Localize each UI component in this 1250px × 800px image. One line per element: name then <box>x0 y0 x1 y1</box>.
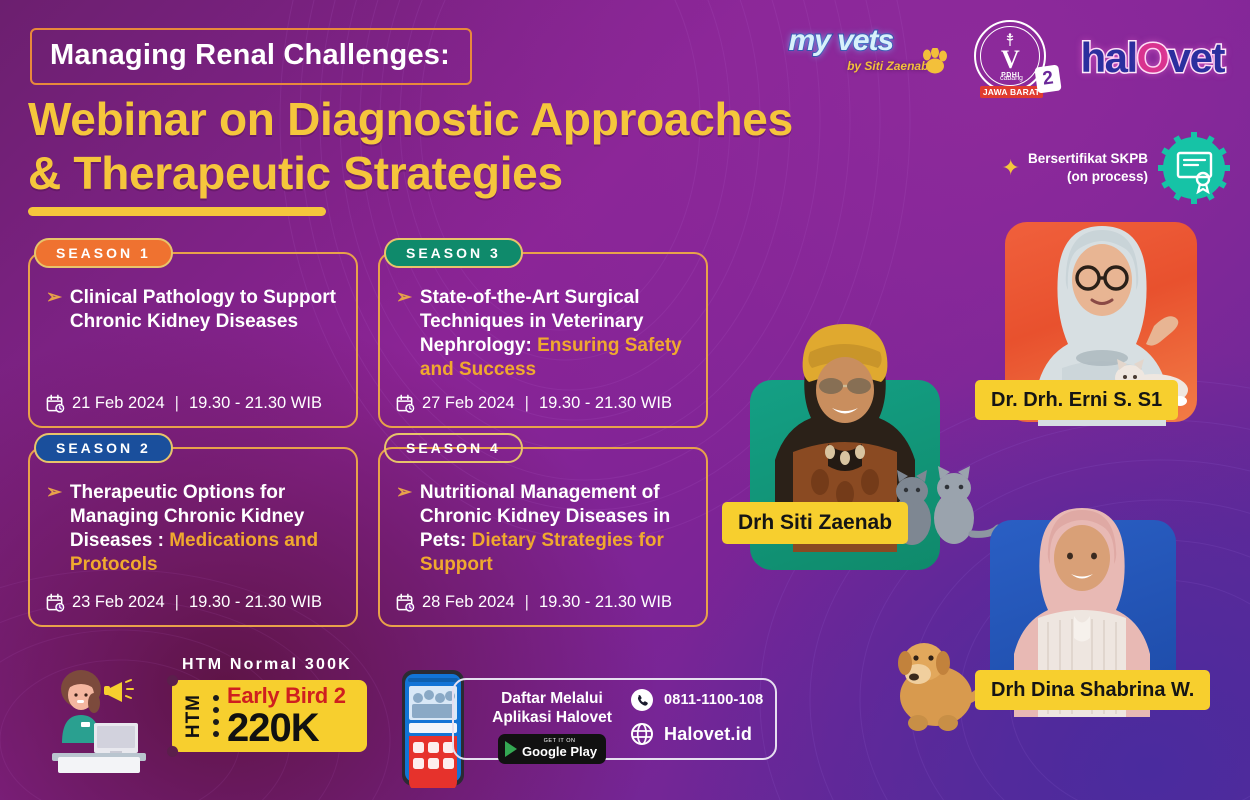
season-topic-1: ➢ Clinical Pathology to Support Chronic … <box>44 286 342 334</box>
arrow-icon: ➢ <box>46 482 62 505</box>
halovet-o-icon: O <box>1137 34 1168 81</box>
paw-icon <box>920 48 950 74</box>
title-underline <box>28 207 326 216</box>
calendar-icon <box>46 394 65 413</box>
season-date-1: 21 Feb 2024 <box>72 394 165 413</box>
speaker-name-tag-erni: Dr. Drh. Erni S. S1 <box>975 380 1178 420</box>
meta-separator: | <box>522 593 532 612</box>
season-date-4: 28 Feb 2024 <box>422 593 515 612</box>
meta-separator: | <box>172 593 182 612</box>
season-card-3[interactable]: SEASON 3 ➢ State-of-the-Art Surgical Tec… <box>378 252 708 428</box>
normal-price-label: HTM Normal 300K <box>182 656 367 674</box>
pdhi-ribbon: cabang JAWA BARAT <box>978 75 1044 100</box>
kicker-box: Managing Renal Challenges: <box>30 28 472 85</box>
skpb-line-2: (on process) <box>1028 168 1148 186</box>
google-play-text: GET IT ON Google Play <box>522 739 597 758</box>
season-topic-2: ➢ Therapeutic Options for Managing Chron… <box>44 481 342 578</box>
meta-separator: | <box>522 394 532 413</box>
speakers-section: Dr. Drh. Erni S. S1 <box>710 200 1250 800</box>
skpb-badge: ✦ Bersertifikat SKPB (on process) <box>1002 130 1232 206</box>
registration-left: Daftar Melalui Aplikasi Halovet GET IT O… <box>488 689 616 764</box>
season-meta-3: 27 Feb 2024 | 19.30 - 21.30 WIB <box>396 394 672 413</box>
google-play-icon <box>505 741 517 757</box>
early-bird-label: Early Bird 2 <box>227 685 346 707</box>
page-title: Webinar on Diagnostic Approaches & Thera… <box>28 92 858 201</box>
certificate-seal-icon <box>1156 130 1232 206</box>
season-meta-2: 23 Feb 2024 | 19.30 - 21.30 WIB <box>46 593 322 612</box>
pricing-block: HTM Normal 300K HTM Early Bird 2 220K <box>172 656 367 752</box>
season-meta-4: 28 Feb 2024 | 19.30 - 21.30 WIB <box>396 593 672 612</box>
early-bird-ticket: HTM Early Bird 2 220K <box>172 680 367 752</box>
pdhi-region: JAWA BARAT <box>980 86 1043 98</box>
season-date-2: 23 Feb 2024 <box>72 593 165 612</box>
season-title-3: State-of-the-Art Surgical Techniques in … <box>420 286 692 383</box>
store-name: Google Play <box>522 745 597 759</box>
registration-title-line-1: Daftar Melalui <box>488 689 616 708</box>
logo-group: my vets by Siti Zaenab V PDHI <box>788 18 1224 98</box>
halovet-part-1: hal <box>1080 34 1136 81</box>
myvets-logo: my vets by Siti Zaenab <box>788 26 948 90</box>
season-card-2[interactable]: SEASON 2 ➢ Therapeutic Options for Manag… <box>28 447 358 627</box>
season-time-3: 19.30 - 21.30 WIB <box>539 394 672 413</box>
season-pill-2: SEASON 2 <box>34 433 173 463</box>
speaker-name-tag-siti: Drh Siti Zaenab <box>722 502 908 544</box>
halovet-part-2: vet <box>1168 34 1224 81</box>
season-meta-1: 21 Feb 2024 | 19.30 - 21.30 WIB <box>46 394 322 413</box>
calendar-icon <box>396 394 415 413</box>
headline-line-2: & Therapeutic Strategies <box>28 146 858 200</box>
pdhi-logo: V PDHI cabang JAWA BARAT 2 <box>970 18 1058 98</box>
registration-title-line-2: Aplikasi Halovet <box>488 708 616 727</box>
ticket-perforation <box>213 695 219 737</box>
globe-icon <box>630 722 654 746</box>
google-play-button[interactable]: GET IT ON Google Play <box>498 734 606 764</box>
season-card-1[interactable]: SEASON 1 ➢ Clinical Pathology to Support… <box>28 252 358 428</box>
skpb-text: Bersertifikat SKPB (on process) <box>1028 150 1148 186</box>
season-topic-3: ➢ State-of-the-Art Surgical Techniques i… <box>394 286 692 383</box>
phone-icon <box>630 688 654 712</box>
pdhi-number: 2 <box>1035 64 1062 93</box>
pdhi-letter: V <box>1001 49 1020 71</box>
season-time-1: 19.30 - 21.30 WIB <box>189 394 322 413</box>
calendar-icon <box>396 593 415 612</box>
sparkle-icon: ✦ <box>1002 157 1020 179</box>
calendar-icon <box>46 593 65 612</box>
season-time-2: 19.30 - 21.30 WIB <box>189 593 322 612</box>
arrow-icon: ➢ <box>396 287 412 310</box>
arrow-icon: ➢ <box>396 482 412 505</box>
season-topic-4: ➢ Nutritional Management of Chronic Kidn… <box>394 481 692 578</box>
kicker-text: Managing Renal Challenges: <box>50 39 450 72</box>
season-pill-3: SEASON 3 <box>384 238 523 268</box>
ticket-price: 220K <box>227 708 346 748</box>
ticket-main: Early Bird 2 220K <box>227 685 346 748</box>
skpb-line-1: Bersertifikat SKPB <box>1028 150 1148 168</box>
myvets-tagline: by Siti Zaenab <box>788 59 928 73</box>
headline-line-1: Webinar on Diagnostic Approaches <box>28 93 793 145</box>
speaker-name-tag-dina: Drh Dina Shabrina W. <box>975 670 1210 710</box>
season-date-3: 27 Feb 2024 <box>422 394 515 413</box>
webinar-poster: Managing Renal Challenges: Webinar on Di… <box>0 0 1250 800</box>
ticket-side-label: HTM <box>183 694 205 738</box>
halovet-logo: halOvet <box>1080 37 1224 79</box>
season-time-4: 19.30 - 21.30 WIB <box>539 593 672 612</box>
season-card-4[interactable]: SEASON 4 ➢ Nutritional Management of Chr… <box>378 447 708 627</box>
season-title-1: Clinical Pathology to Support Chronic Ki… <box>70 286 342 334</box>
customer-service-illustration <box>34 665 156 773</box>
registration-title: Daftar Melalui Aplikasi Halovet <box>488 689 616 728</box>
meta-separator: | <box>172 394 182 413</box>
arrow-icon: ➢ <box>46 287 62 310</box>
halovet-wordmark: halOvet <box>1080 37 1224 79</box>
season-pill-1: SEASON 1 <box>34 238 173 268</box>
season-title-4: Nutritional Management of Chronic Kidney… <box>420 481 692 578</box>
season-pill-4: SEASON 4 <box>384 433 523 463</box>
season-title-2: Therapeutic Options for Managing Chronic… <box>70 481 342 578</box>
